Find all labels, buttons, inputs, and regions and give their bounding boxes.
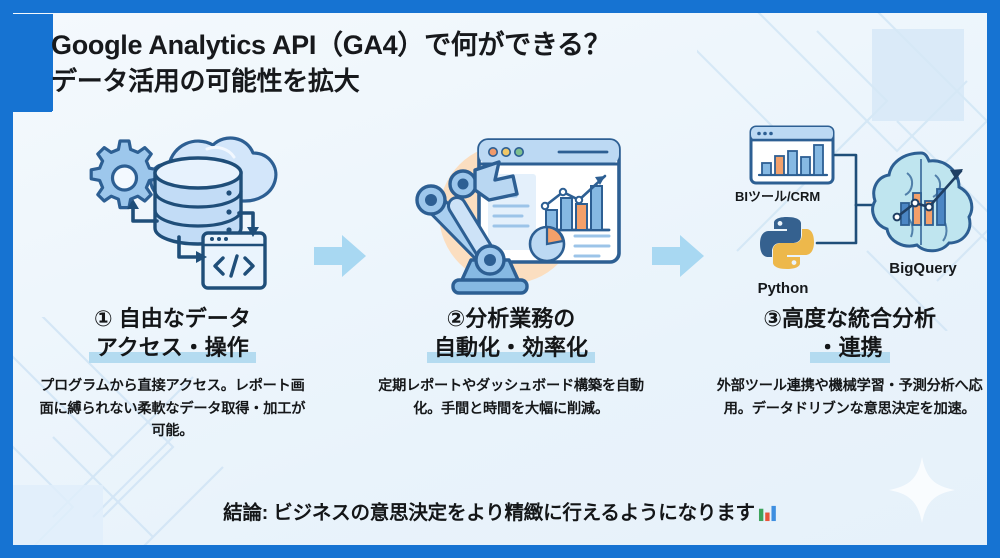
slide-canvas: Google Analytics API（GA4）で何ができる？ データ活用の可… [13, 13, 987, 545]
python-logo-icon [760, 217, 814, 269]
flow-arrow-right-icon [652, 233, 704, 279]
step-1-body: プログラムから直接アクセス。レポート画面に縛られない柔軟なデータ取得・加工が可能… [36, 375, 308, 442]
bigquery-label: BigQuery [889, 260, 957, 277]
step-2-heading-line-1: ②分析業務の [434, 305, 588, 334]
step-2-heading: ②分析業務の 自動化・効率化 [432, 305, 590, 362]
bar-chart-emoji-icon [758, 504, 777, 522]
step-2-heading-line-2: 自動化・効率化 [434, 334, 588, 363]
step-3-heading-line-2: ・連携 [817, 334, 883, 363]
database-icon [155, 158, 241, 244]
step-column-2: ②分析業務の 自動化・効率化 定期レポートやダッシュボード構築を自動化。手間と時… [374, 121, 649, 420]
page-title: Google Analytics API（GA4）で何ができる？ データ活用の可… [51, 27, 610, 100]
step-2-body: 定期レポートやダッシュボード構築を自動化。手間と時間を大幅に削減。 [375, 375, 647, 420]
flow-arrow-2-cell [648, 121, 708, 481]
brain-bigquery-icon [872, 153, 971, 251]
three-step-flow: ① 自由なデータ アクセス・操作 プログラムから直接アクセス。レポート画面に縛ら… [13, 121, 987, 481]
step-3-body: 外部ツール連携や機械学習・予測分析へ応用。データドリブンな意思決定を加速。 [714, 375, 986, 420]
code-window-icon [203, 233, 265, 288]
flow-arrow-1-cell [310, 121, 370, 481]
step-1-heading-line-1: ① 自由なデータ [94, 305, 251, 334]
bi-python-bigquery-illustration: BIツール/CRM Python BigQuery [725, 121, 975, 301]
step-column-1: ① 自由なデータ アクセス・操作 プログラムから直接アクセス。レポート画面に縛ら… [35, 121, 310, 443]
bi-tool-label: BIツール/CRM [735, 189, 820, 204]
title-line-2: データ活用の可能性を拡大 [51, 64, 610, 100]
step-3-heading: ③高度な統合分析 ・連携 [761, 305, 938, 362]
bi-tool-window-icon [751, 127, 833, 183]
conclusion-banner: 結論: ビジネスの意思決定をより精緻に行えるようになります [13, 496, 987, 525]
cloud-database-code-illustration [57, 121, 287, 301]
conclusion-text: 結論: ビジネスの意思決定をより精緻に行えるようになります [223, 502, 755, 524]
step-3-heading-line-1: ③高度な統合分析 [763, 305, 936, 334]
step-1-heading-line-2: アクセス・操作 [96, 334, 249, 363]
pie-chart-icon [530, 227, 564, 261]
gear-icon [92, 141, 159, 208]
left-accent-bar [0, 14, 52, 112]
step-column-3: BIツール/CRM Python BigQuery ③高度な統合分析 ・連携 外… [712, 121, 987, 420]
title-line-1: Google Analytics API（GA4）で何ができる？ [51, 27, 610, 64]
python-label: Python [757, 280, 808, 297]
robot-arm-dashboard-illustration [391, 121, 631, 301]
step-1-heading: ① 自由なデータ アクセス・操作 [92, 305, 253, 362]
flow-arrow-right-icon [314, 233, 366, 279]
dashboard-window-icon [479, 140, 619, 262]
